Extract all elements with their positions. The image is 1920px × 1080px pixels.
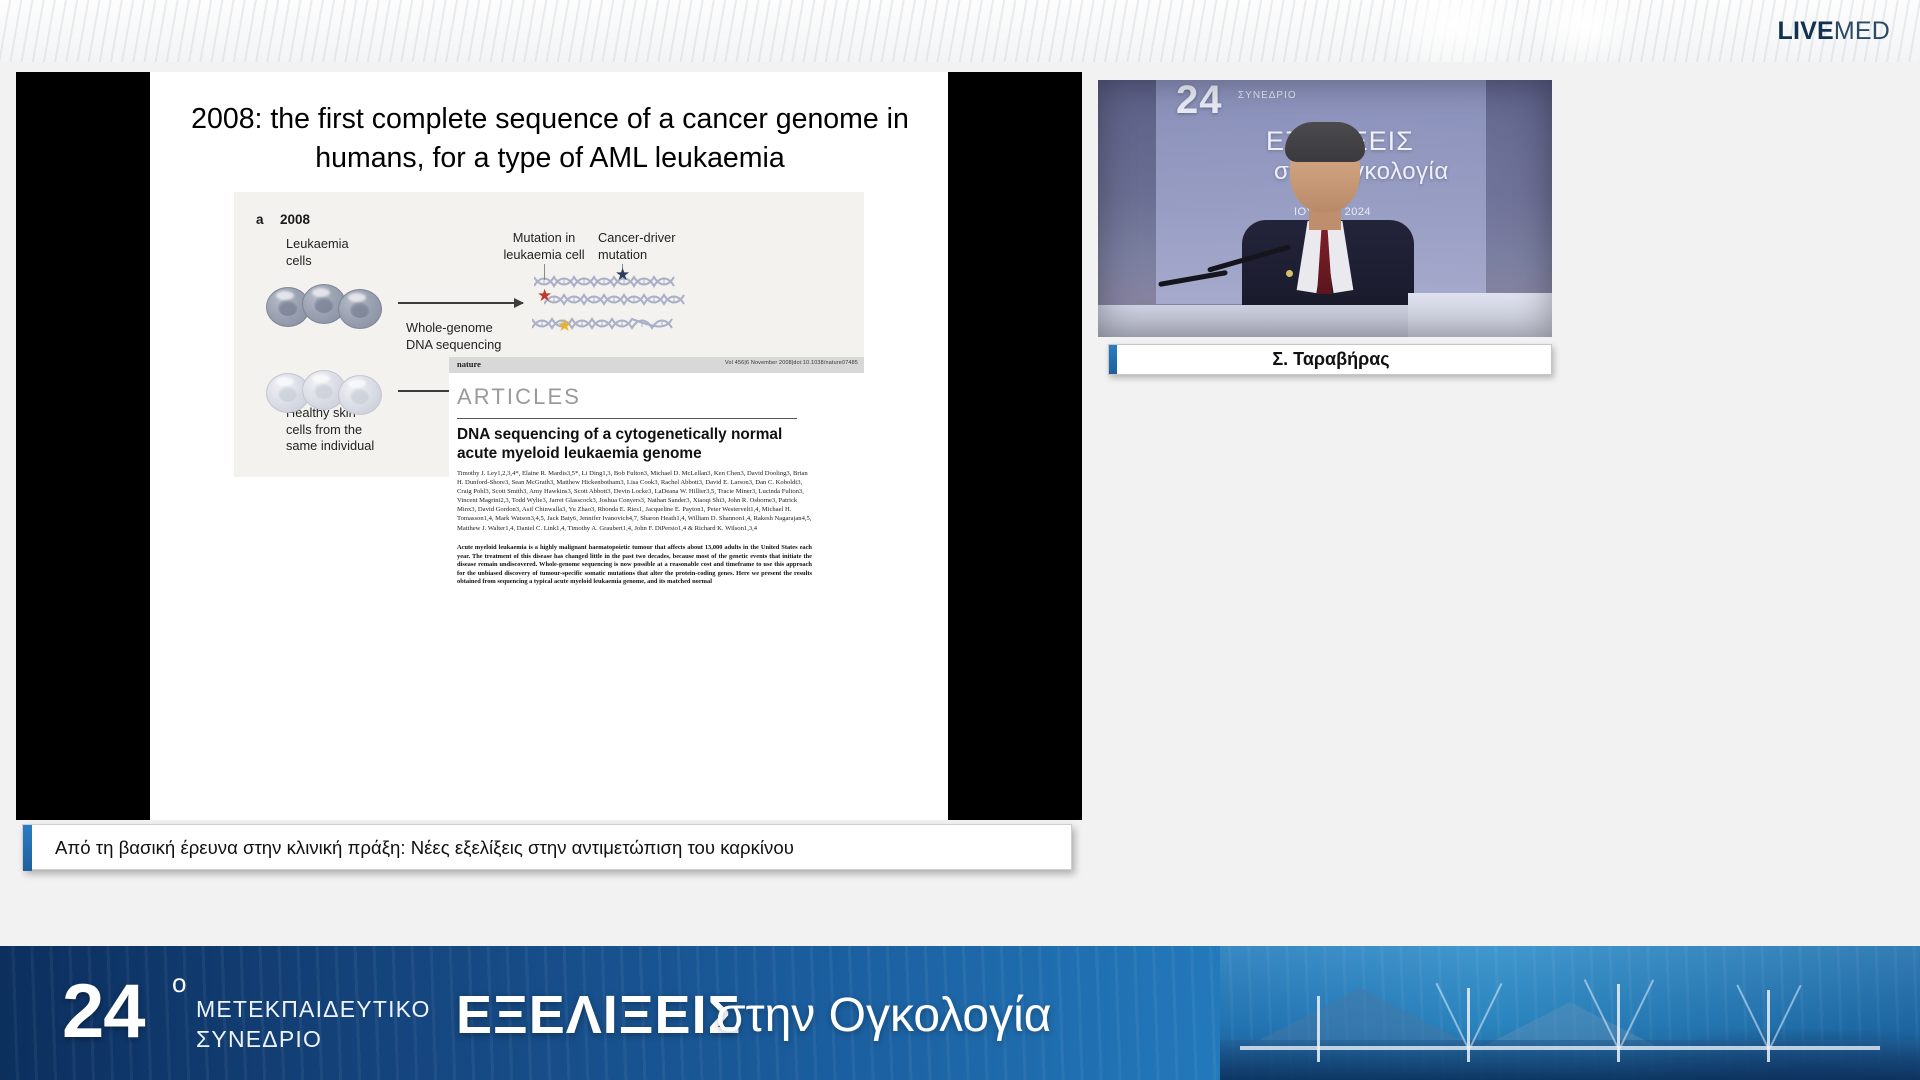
journal-author-list: Timothy J. Ley1,2,3,4*, Elaine R. Mardis… <box>457 469 812 533</box>
figure-year-label: 2008 <box>280 212 310 227</box>
mutation-star-icon: ★ <box>537 287 552 304</box>
sequencing-arrow-leukaemia <box>398 302 523 304</box>
slide-stage[interactable]: 2008: the first complete sequence of a c… <box>16 72 1082 820</box>
label-cancer-driver-mutation: Cancer-driver mutation <box>598 230 698 263</box>
caption-text: Από τη βασική έρευνα στην κλινική πράξη:… <box>55 825 1057 871</box>
bridge-pylon <box>1767 990 1770 1062</box>
label-leukaemia-cells: Leukaemia cells <box>286 236 349 269</box>
banner-word-metekpaideftiko: ΜΕΤΕΚΠΑΙΔΕΥΤΙΚΟ <box>196 996 431 1023</box>
livemed-logo[interactable]: LIVEMED <box>1777 17 1890 45</box>
bridge-deck <box>1240 1046 1880 1050</box>
banner-main-title: ΕΞΕΛΙΞΕΙΣ <box>456 984 741 1046</box>
top-bar: LIVEMED <box>0 0 1920 62</box>
bridge-pylon <box>1617 984 1620 1062</box>
logo-live: LIVE <box>1777 17 1833 45</box>
journal-masthead: nature <box>457 359 481 369</box>
journal-rule <box>457 418 797 419</box>
video-vignette <box>1098 80 1552 337</box>
slide-letterbox: 2008: the first complete sequence of a c… <box>16 72 1082 820</box>
banner-degree-symbol: o <box>172 968 186 999</box>
caption-accent-bar <box>23 825 32 871</box>
session-caption-wrapper: Από τη βασική έρευνα στην κλινική πράξη:… <box>22 824 1080 878</box>
topbar-glow-left <box>1380 0 1530 62</box>
journal-article-title: DNA sequencing of a cytogenetically norm… <box>457 425 807 463</box>
journal-volume-line: Vol 456|6 November 2008|doi:10.1038/natu… <box>725 360 858 366</box>
bridge-pylon <box>1467 988 1470 1062</box>
presentation-slide: 2008: the first complete sequence of a c… <box>150 72 948 820</box>
healthy-cell <box>338 375 382 415</box>
speaker-nameplate: Σ. Ταραβήρας <box>1108 344 1552 375</box>
journal-section-heading: ARTICLES <box>457 384 581 410</box>
journal-abstract: Acute myeloid leukaemia is a highly mali… <box>457 544 812 587</box>
label-mutation-in-leukaemia-cell: Mutation in leukaemia cell <box>496 230 592 263</box>
banner-congress-number: 24 <box>62 968 145 1055</box>
leukaemia-cell <box>338 289 382 329</box>
healthy-cell-cluster <box>266 370 392 410</box>
slide-title: 2008: the first complete sequence of a c… <box>182 100 918 178</box>
bridge-pylon <box>1317 996 1320 1062</box>
banner-word-synedrio: ΣΥΝΕΔΡΙΟ <box>196 1026 322 1053</box>
leader-line-mutation <box>544 264 545 280</box>
dna-strand-icon <box>534 274 684 288</box>
dna-strand-icon <box>532 316 682 330</box>
session-caption: Από τη βασική έρευνα στην κλινική πράξη:… <box>22 824 1072 870</box>
label-whole-genome-sequencing: Whole-genome DNA sequencing <box>406 320 501 353</box>
banner-subtitle: στην Ογκολογία <box>716 988 1052 1043</box>
cancer-driver-star-icon: ★ <box>615 266 630 283</box>
speaker-video[interactable]: 24 ΣΥΝΕΔΡΙΟ ΕΞΕΛΙΞΕΙΣ στην Ογκολογία ΙΟΥ… <box>1098 80 1552 337</box>
dna-strand-icon <box>544 292 694 306</box>
logo-med: MED <box>1834 17 1890 45</box>
figure-panel-letter: a <box>256 212 264 227</box>
speaker-name: Σ. Ταραβήρας <box>1109 345 1553 374</box>
journal-article-scan: nature Vol 456|6 November 2008|doi:10.10… <box>449 357 864 820</box>
topbar-glow-right <box>1530 0 1640 62</box>
leukaemia-cell-cluster <box>266 284 392 324</box>
variant-star-icon: ★ <box>557 317 572 334</box>
journal-masthead-bar: nature Vol 456|6 November 2008|doi:10.10… <box>449 357 864 373</box>
